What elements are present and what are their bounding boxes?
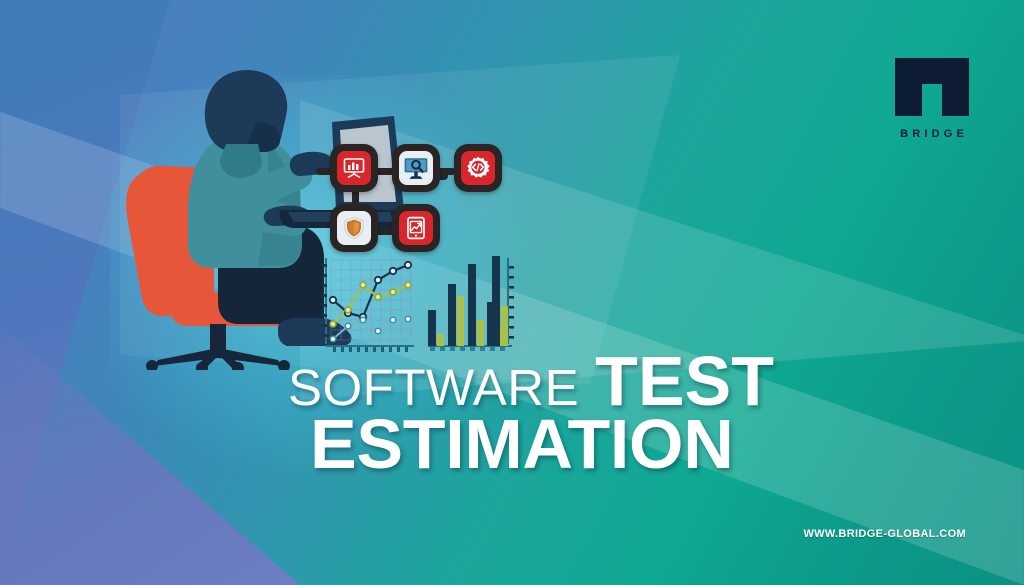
- headline-estimation: ESTIMATION: [310, 409, 808, 480]
- neck: [220, 144, 262, 178]
- headline-block: SOFTWARETEST ESTIMATION: [288, 348, 808, 480]
- charts-svg: [316, 252, 526, 360]
- node-test-report[interactable]: [330, 144, 378, 192]
- charts-illustration: [316, 252, 526, 360]
- bar-olive-3: [477, 320, 484, 346]
- banner-canvas: SOFTWARETEST ESTIMATION BRIDGE WWW.BRIDG…: [0, 0, 1024, 585]
- presentation-chart-icon: [337, 151, 371, 185]
- process-node-cluster: [330, 124, 515, 244]
- chair-base: [146, 348, 290, 370]
- bar-navy-1: [428, 310, 436, 346]
- mobile-chart-icon: [399, 211, 433, 245]
- line-chart: [322, 258, 414, 352]
- bar-navy-5: [492, 256, 500, 346]
- bridge-logo-icon: [895, 58, 969, 116]
- monitor-magnifier-icon: [399, 151, 433, 185]
- line-series-teal: [333, 319, 408, 339]
- node-code-gear[interactable]: [454, 144, 502, 192]
- node-mobile-metrics[interactable]: [392, 204, 440, 252]
- node-screen-inspect[interactable]: [392, 144, 440, 192]
- website-url[interactable]: WWW.BRIDGE-GLOBAL.COM: [803, 528, 966, 540]
- bar-olive-5: [501, 306, 508, 346]
- gear-code-icon: [461, 151, 495, 185]
- bar-navy-2: [448, 284, 456, 346]
- bar-navy-3: [468, 264, 476, 346]
- line-series-olive: [333, 285, 408, 324]
- bar-olive-1: [437, 334, 444, 346]
- node-security[interactable]: [330, 204, 378, 252]
- brand-logo[interactable]: BRIDGE: [884, 58, 980, 140]
- shield-icon: [337, 211, 371, 245]
- bar-chart-yticks: [509, 266, 514, 339]
- bar-olive-2: [457, 296, 464, 346]
- bar-chart: [428, 256, 514, 351]
- logo-wordmark: BRIDGE: [884, 128, 980, 140]
